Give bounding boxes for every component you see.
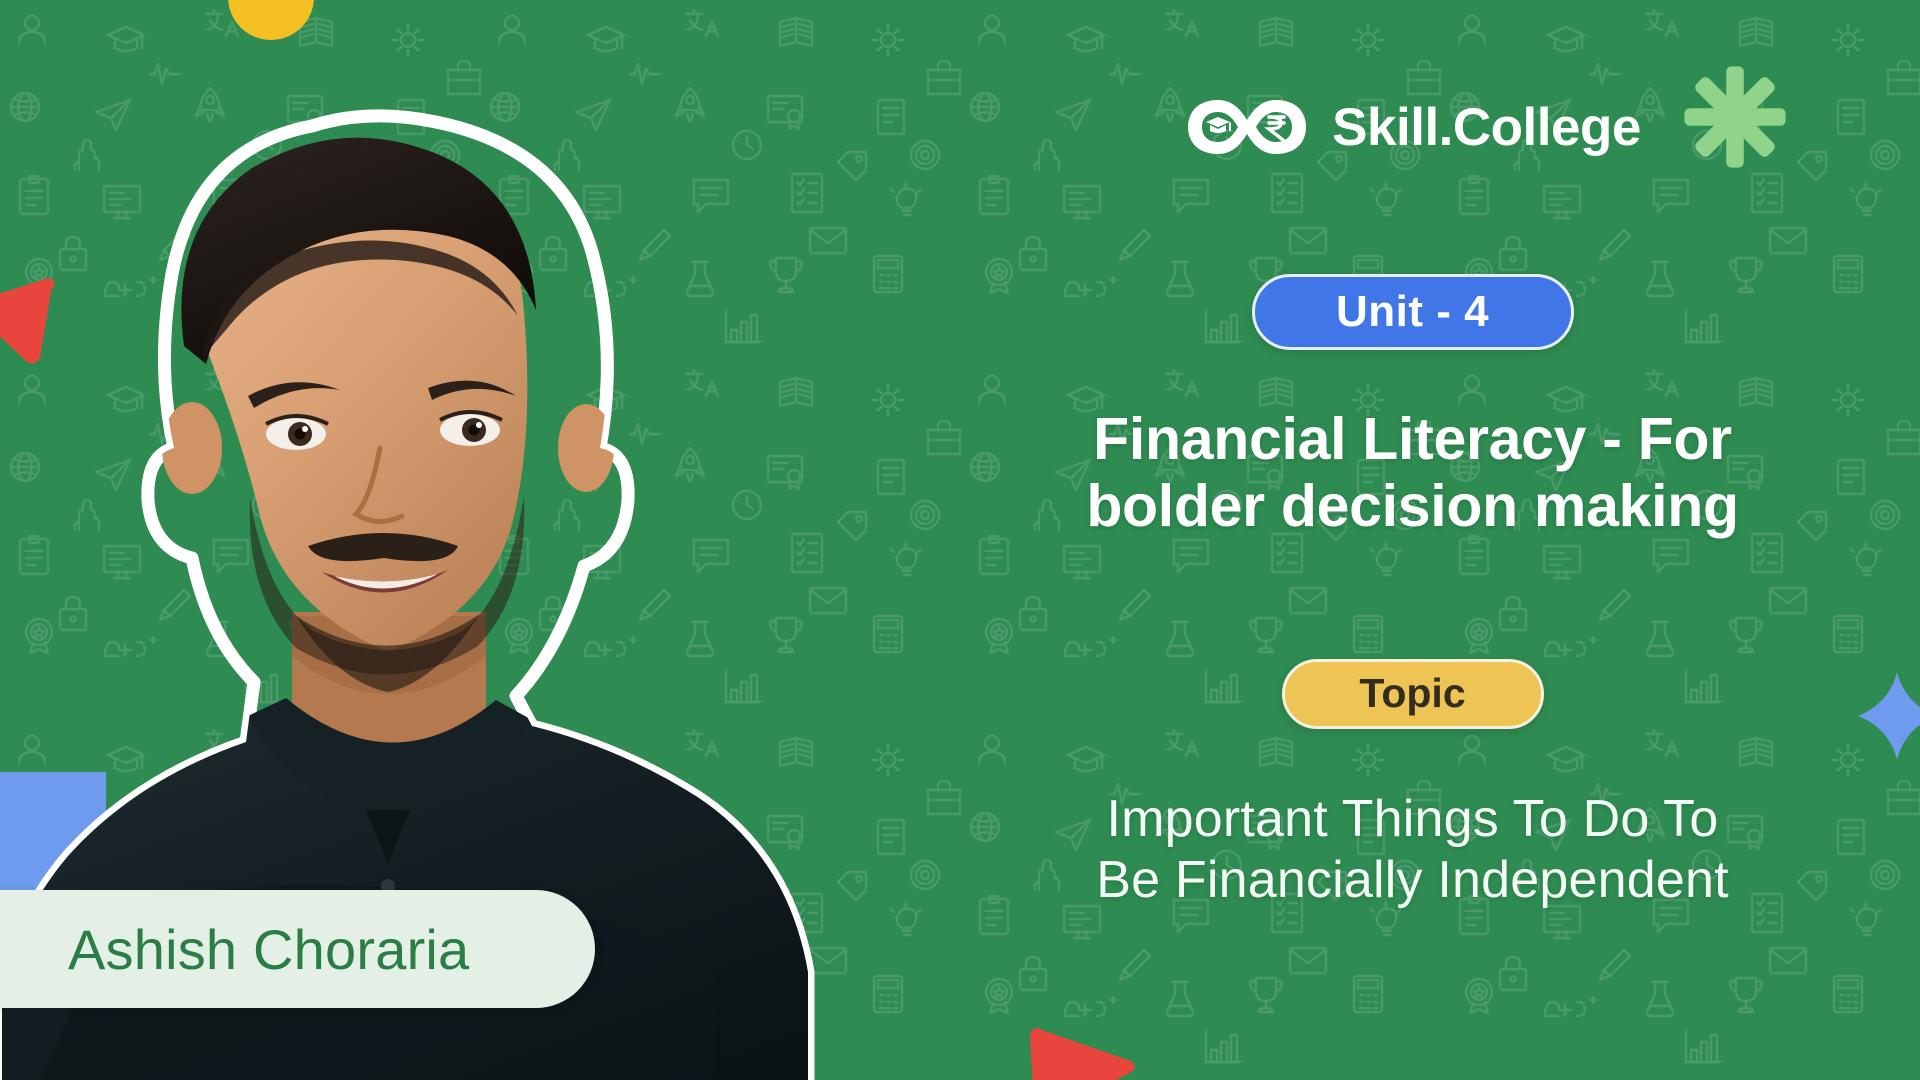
infinity-graduation-rupee-icon: [1184, 92, 1310, 162]
topic-badge[interactable]: Topic: [1282, 659, 1544, 729]
presenter-name: Ashish Choraria: [68, 917, 469, 982]
topic-badge-label: Topic: [1359, 670, 1465, 717]
topic-text: Important Things To Do To Be Financially…: [905, 789, 1920, 913]
slide-canvas: Ashish Choraria S: [0, 0, 1920, 1080]
brand-name: Skill.College: [1332, 97, 1641, 158]
brand-logo[interactable]: Skill.College: [1184, 92, 1641, 162]
yellow-circle-decoration: [228, 0, 314, 40]
lesson-title-line1: Financial Literacy - For: [905, 406, 1920, 473]
slide-content: Skill.College Unit - 4 Financial Literac…: [905, 0, 1920, 1080]
presenter-name-pill: Ashish Choraria: [0, 890, 595, 1008]
topic-text-line1: Important Things To Do To: [905, 789, 1920, 851]
lesson-title-line2: bolder decision making: [905, 473, 1920, 540]
topic-text-line2: Be Financially Independent: [905, 850, 1920, 912]
lesson-title: Financial Literacy - For bolder decision…: [905, 406, 1920, 541]
unit-badge-label: Unit - 4: [1336, 287, 1489, 337]
unit-badge[interactable]: Unit - 4: [1252, 274, 1574, 350]
